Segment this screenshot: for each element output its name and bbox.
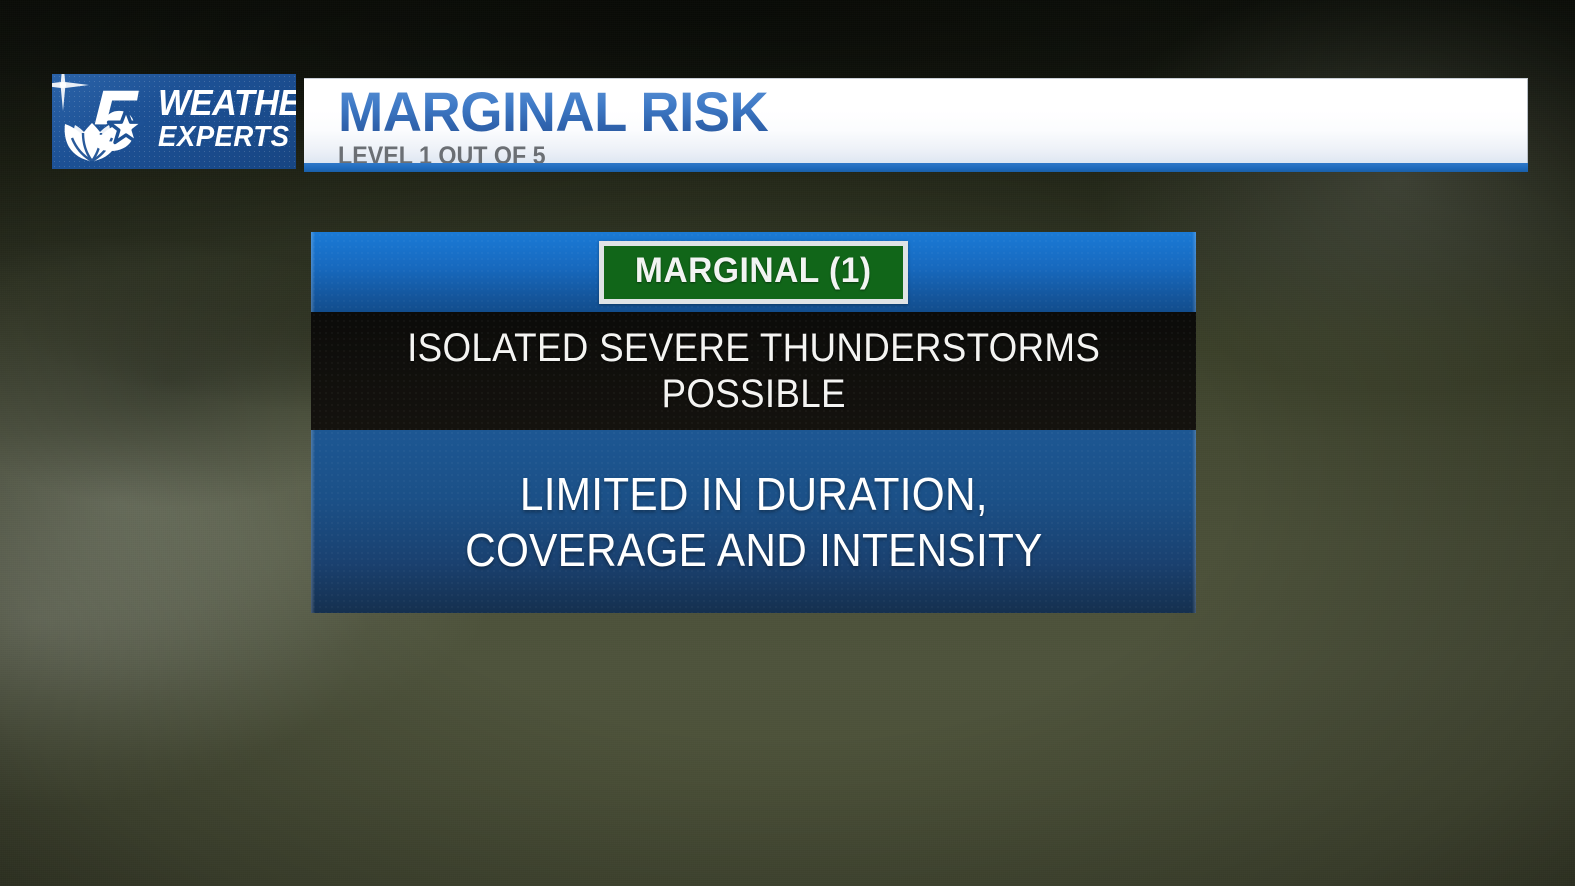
headline-bar: MARGINAL RISK LEVEL 1 OUT OF 5 xyxy=(304,78,1528,172)
risk-badge-band: MARGINAL (1) xyxy=(311,232,1196,312)
secondary-statement-text: LIMITED IN DURATION, COVERAGE AND INTENS… xyxy=(465,466,1043,578)
risk-info-panel: MARGINAL (1) ISOLATED SEVERE THUNDERSTOR… xyxy=(311,232,1196,613)
band-left-edge xyxy=(311,232,315,312)
primary-statement-band: ISOLATED SEVERE THUNDERSTORMS POSSIBLE xyxy=(311,312,1196,430)
primary-statement-text: ISOLATED SEVERE THUNDERSTORMS POSSIBLE xyxy=(407,325,1100,417)
page-title: MARGINAL RISK xyxy=(338,81,1481,143)
logo-content: 5 WEATHER EXPERTS xyxy=(52,74,296,169)
band-right-edge xyxy=(1192,232,1196,312)
headline-accent-strip xyxy=(304,163,1528,172)
weather-graphic-screen: MARGINAL RISK LEVEL 1 OUT OF 5 xyxy=(0,0,1575,886)
detail-left-edge xyxy=(311,430,315,613)
headline-text-group: MARGINAL RISK LEVEL 1 OUT OF 5 xyxy=(338,81,1516,163)
detail-right-edge xyxy=(1192,430,1196,613)
station-logo: 5 WEATHER EXPERTS xyxy=(52,74,296,169)
status-badge: MARGINAL (1) xyxy=(599,241,907,304)
logo-weather-text: WEATHER xyxy=(158,84,296,121)
secondary-statement-band: LIMITED IN DURATION, COVERAGE AND INTENS… xyxy=(311,430,1196,613)
status-badge-label: MARGINAL (1) xyxy=(635,250,872,292)
logo-experts-text: EXPERTS xyxy=(158,121,296,154)
logo-wordmark: WEATHER EXPERTS xyxy=(158,84,296,154)
